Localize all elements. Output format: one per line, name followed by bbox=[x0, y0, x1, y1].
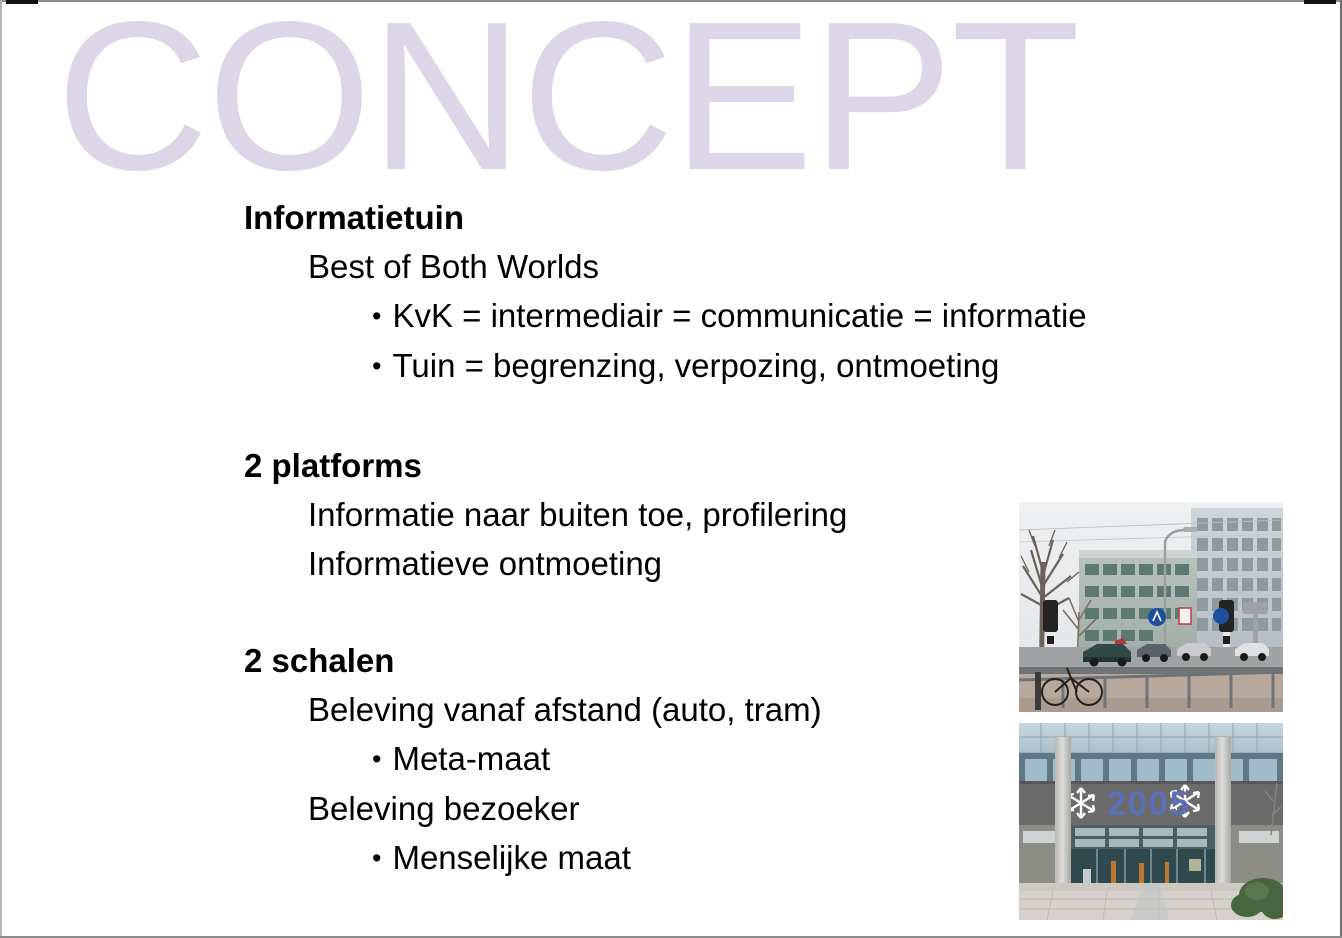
photo-building-entrance-graphic: 2005 bbox=[1019, 723, 1283, 920]
photo-building-entrance: 2005 bbox=[1019, 723, 1283, 920]
photo-street-scene-graphic bbox=[1019, 502, 1283, 712]
bullet-dot-icon: • bbox=[372, 843, 381, 873]
bullet-dot-icon: • bbox=[372, 744, 381, 774]
bullet-dot-icon: • bbox=[372, 351, 381, 381]
bullet-dot-icon: • bbox=[372, 301, 381, 331]
bullet-menselijke-maat-label: Menselijke maat bbox=[392, 839, 630, 876]
concept-watermark: CONCEPT bbox=[56, 0, 1076, 196]
photo-street-scene bbox=[1019, 502, 1283, 712]
bullet-kvk-label: KvK = intermediair = communicatie = info… bbox=[392, 297, 1086, 334]
slide-canvas: CONCEPT Informatietuin Best of Both Worl… bbox=[0, 0, 1342, 938]
section-heading-2-platforms: 2 platforms bbox=[244, 441, 1304, 490]
slide-corner-mark-top-right bbox=[1304, 0, 1336, 4]
slide-corner-mark-top-left bbox=[6, 0, 38, 4]
section-subheading-best-of-both-worlds: Best of Both Worlds bbox=[308, 242, 1304, 291]
bullet-tuin-label: Tuin = begrenzing, verpozing, ontmoeting bbox=[392, 347, 999, 384]
bullet-kvk: •KvK = intermediair = communicatie = inf… bbox=[372, 291, 1304, 341]
section-spacer bbox=[244, 391, 1304, 441]
sign-2005-text: 2005 bbox=[1107, 785, 1191, 823]
bullet-meta-maat-label: Meta-maat bbox=[392, 740, 550, 777]
section-heading-informatietuin: Informatietuin bbox=[244, 193, 1304, 242]
bullet-tuin: •Tuin = begrenzing, verpozing, ontmoetin… bbox=[372, 341, 1304, 391]
slide-border-left bbox=[0, 0, 2, 938]
